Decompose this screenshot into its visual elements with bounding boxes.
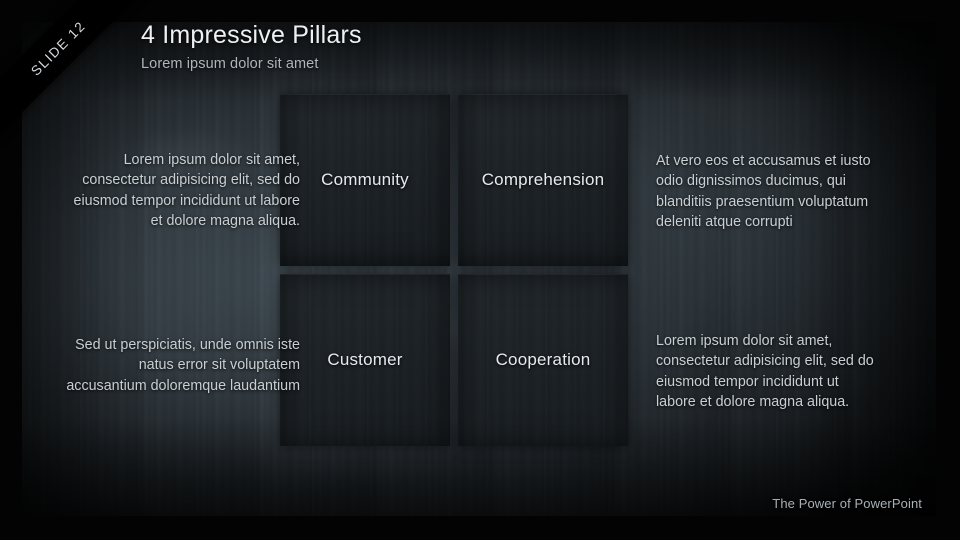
- pillar-cell-cooperation[interactable]: Cooperation: [458, 274, 628, 446]
- page-subtitle: Lorem ipsum dolor sit amet: [141, 56, 362, 72]
- body-text-top-right: At vero eos et accusamus et iusto odio d…: [656, 151, 878, 232]
- body-text-bottom-right: Lorem ipsum dolor sit amet, consectetur …: [656, 331, 878, 412]
- pillar-label: Comprehension: [482, 170, 605, 190]
- slide-frame: SLIDE 12 4 Impressive Pillars Lorem ipsu…: [0, 0, 960, 540]
- pillar-cell-customer[interactable]: Customer: [280, 274, 450, 446]
- pillar-grid: Community Comprehension Customer Coopera…: [280, 94, 628, 446]
- page-title: 4 Impressive Pillars: [141, 22, 362, 50]
- pillar-cell-comprehension[interactable]: Comprehension: [458, 94, 628, 266]
- body-text-bottom-left: Sed ut perspiciatis, unde omnis iste nat…: [62, 335, 300, 396]
- pillar-label: Customer: [327, 350, 402, 370]
- slide-header: 4 Impressive Pillars Lorem ipsum dolor s…: [141, 22, 362, 72]
- pillar-label: Cooperation: [496, 350, 591, 370]
- body-text-top-left: Lorem ipsum dolor sit amet, consectetur …: [62, 150, 300, 231]
- footer-credit: The Power of PowerPoint: [772, 496, 922, 511]
- pillar-label: Community: [321, 170, 409, 190]
- pillar-cell-community[interactable]: Community: [280, 94, 450, 266]
